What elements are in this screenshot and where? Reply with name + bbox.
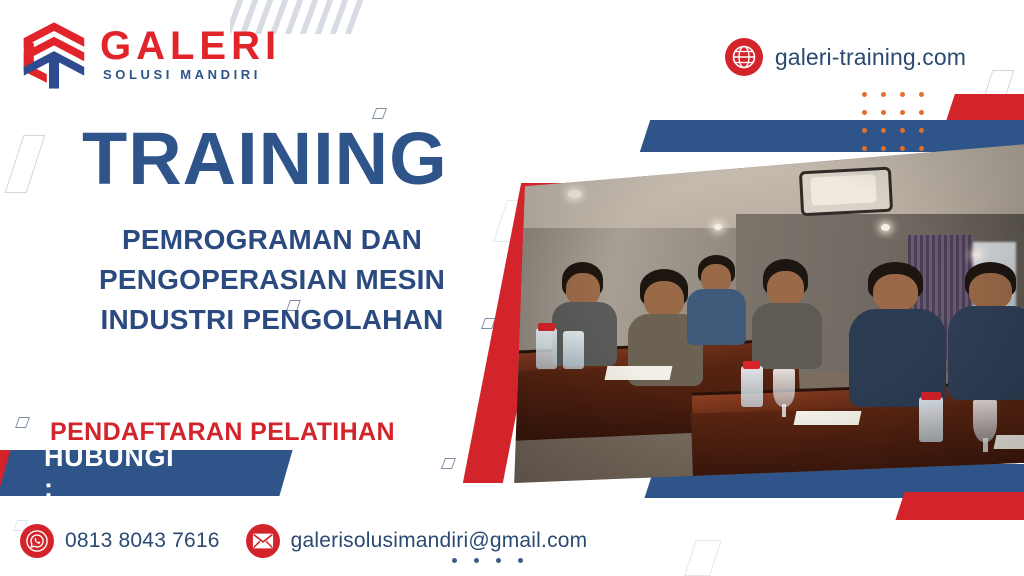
website-url[interactable]: galeri-training.com	[775, 44, 966, 71]
red-bar-bottom	[895, 492, 1024, 520]
training-promo-poster: GALERI SOLUSI MANDIRI galeri-training.co…	[0, 0, 1024, 576]
globe-icon	[725, 38, 763, 76]
brand-name: GALERI	[100, 27, 281, 65]
email-address[interactable]: galerisolusimandiri@gmail.com	[291, 529, 588, 553]
subtitle-line-2: PENGOPERASIAN MESIN	[52, 260, 492, 300]
brand-logo[interactable]: GALERI SOLUSI MANDIRI	[18, 18, 281, 90]
photo-composition	[470, 78, 1024, 508]
blue-bar-top	[640, 120, 1024, 152]
phone-number[interactable]: 0813 8043 7616	[65, 529, 220, 553]
subtitle-line-1: PEMROGRAMAN DAN	[52, 220, 492, 260]
website-link[interactable]: galeri-training.com	[725, 38, 966, 76]
training-photo	[498, 138, 1024, 483]
dot-decoration-bottom	[452, 558, 523, 563]
outline-diamond-left	[15, 417, 30, 428]
page-subtitle: PEMROGRAMAN DAN PENGOPERASIAN MESIN INDU…	[52, 220, 492, 339]
training-photo-image	[498, 138, 1024, 483]
envelope-icon[interactable]	[246, 524, 280, 558]
contact-list: 0813 8043 7616 galerisolusimandiri@gmail…	[20, 524, 587, 558]
contact-banner-label: HUBUNGI :	[44, 450, 174, 496]
whatsapp-icon[interactable]	[20, 524, 54, 558]
brand-logo-text: GALERI SOLUSI MANDIRI	[100, 27, 281, 82]
orange-dot-grid-decoration	[862, 92, 924, 151]
page-title: TRAINING	[82, 122, 448, 196]
gs-monogram-logo-icon	[18, 18, 90, 90]
subtitle-line-3: INDUSTRI PENGOLAHAN	[52, 300, 492, 340]
outline-diamond-lower	[441, 458, 456, 469]
slanted-outline-rectangle-bottom	[684, 540, 722, 576]
brand-tagline: SOLUSI MANDIRI	[100, 67, 281, 82]
slanted-outline-rectangle-left	[5, 135, 46, 193]
